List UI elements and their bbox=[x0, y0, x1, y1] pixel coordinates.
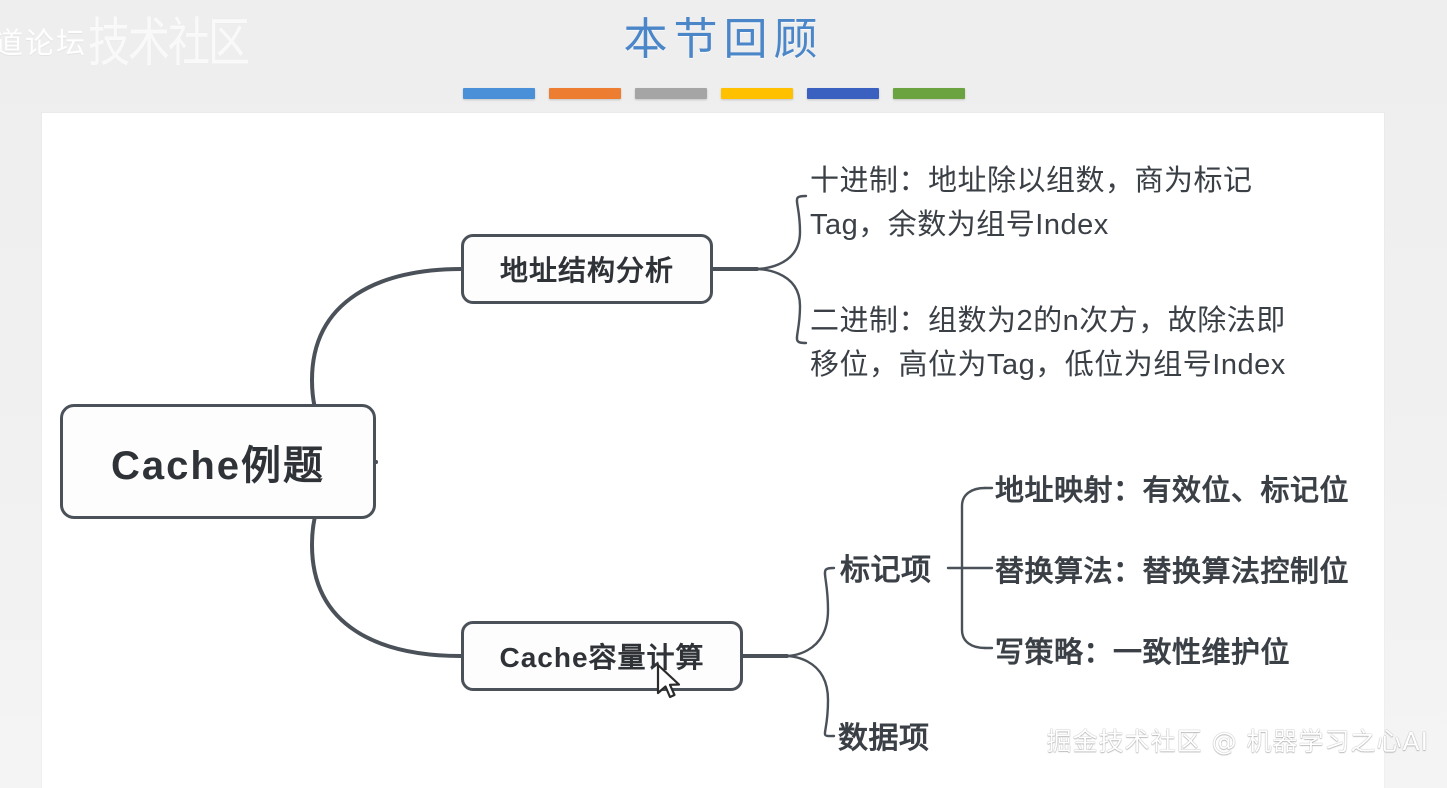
mindmap-leaf-replacement-algorithm: 替换算法：替换算法控制位 bbox=[995, 551, 1349, 595]
accent-bar-yellow bbox=[721, 88, 793, 99]
mindmap-leaf-data-item: 数据项 bbox=[838, 716, 930, 761]
page-title: 本节回顾 bbox=[0, 16, 1447, 64]
mindmap-leaf-binary: 二进制：组数为2的n次方，故除法即 移位，高位为Tag，低位为组号Index bbox=[810, 300, 1286, 387]
mindmap-leaf-address-mapping: 地址映射：有效位、标记位 bbox=[995, 470, 1349, 514]
mouse-cursor-icon bbox=[655, 663, 685, 703]
accent-bar-blue-dark bbox=[807, 88, 879, 99]
mindmap-node-address-structure[interactable]: 地址结构分析 bbox=[461, 234, 713, 304]
mindmap-leaf-tag-item: 标记项 bbox=[840, 548, 932, 593]
accent-bar-grey bbox=[635, 88, 707, 99]
mindmap-leaf-decimal: 十进制：地址除以组数，商为标记 Tag，余数为组号Index bbox=[810, 160, 1253, 247]
accent-bar-blue-light bbox=[463, 88, 535, 99]
mindmap-node-cache-capacity[interactable]: Cache容量计算 bbox=[461, 621, 743, 691]
accent-bar-orange bbox=[549, 88, 621, 99]
mindmap-leaf-write-policy: 写策略：一致性维护位 bbox=[995, 632, 1290, 676]
mindmap-root-node[interactable]: Cache例题 bbox=[60, 404, 376, 519]
accent-bar-group bbox=[463, 88, 965, 99]
accent-bar-green bbox=[893, 88, 965, 99]
